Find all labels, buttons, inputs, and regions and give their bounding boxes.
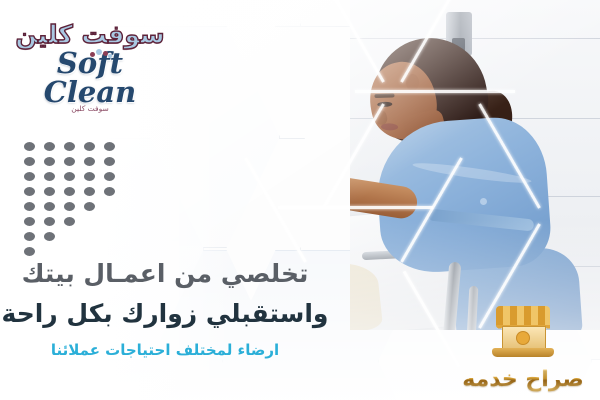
advertisement-banner: سوفت كلين Soft Clean سوفت كلين تخلصي من … xyxy=(0,0,600,400)
awning-icon xyxy=(496,306,550,326)
housekeeper-photo xyxy=(350,0,600,330)
dot-row xyxy=(24,142,115,151)
lips xyxy=(381,123,398,131)
dot-matrix-decoration xyxy=(24,142,115,262)
logo-arabic-name: سوفت كلين xyxy=(14,22,166,47)
eyebrow xyxy=(374,93,394,98)
dot-row xyxy=(24,217,115,226)
headline-primary: تخلصي من اعمـال بيتك xyxy=(0,258,330,289)
watermark: صراح خدمه xyxy=(458,306,588,394)
dot-row xyxy=(24,232,115,241)
uniform-button xyxy=(480,198,487,205)
laptop-base-icon xyxy=(492,348,554,357)
dot-row xyxy=(24,247,115,256)
dot-row xyxy=(24,202,115,211)
dot-row xyxy=(24,172,115,181)
eye xyxy=(377,102,392,108)
headline-secondary: واستقبلي زوارك بكل راحة xyxy=(0,298,330,329)
marketing-copy: تخلصي من اعمـال بيتك واستقبلي زوارك بكل … xyxy=(0,258,330,360)
brand-logo: سوفت كلين Soft Clean سوفت كلين xyxy=(14,22,166,113)
dot-row xyxy=(24,157,115,166)
logo-arabic-subtitle: سوفت كلين xyxy=(14,104,166,113)
tagline: ارضاء لمختلف احتياجات عملائنا xyxy=(0,341,330,361)
shop-body-icon xyxy=(502,326,546,350)
watermark-text: صراح خدمه xyxy=(458,367,588,392)
bubbles-icon xyxy=(88,48,114,60)
dot-row xyxy=(24,187,115,196)
ear xyxy=(406,74,419,91)
shop-laptop-icon xyxy=(490,306,556,360)
